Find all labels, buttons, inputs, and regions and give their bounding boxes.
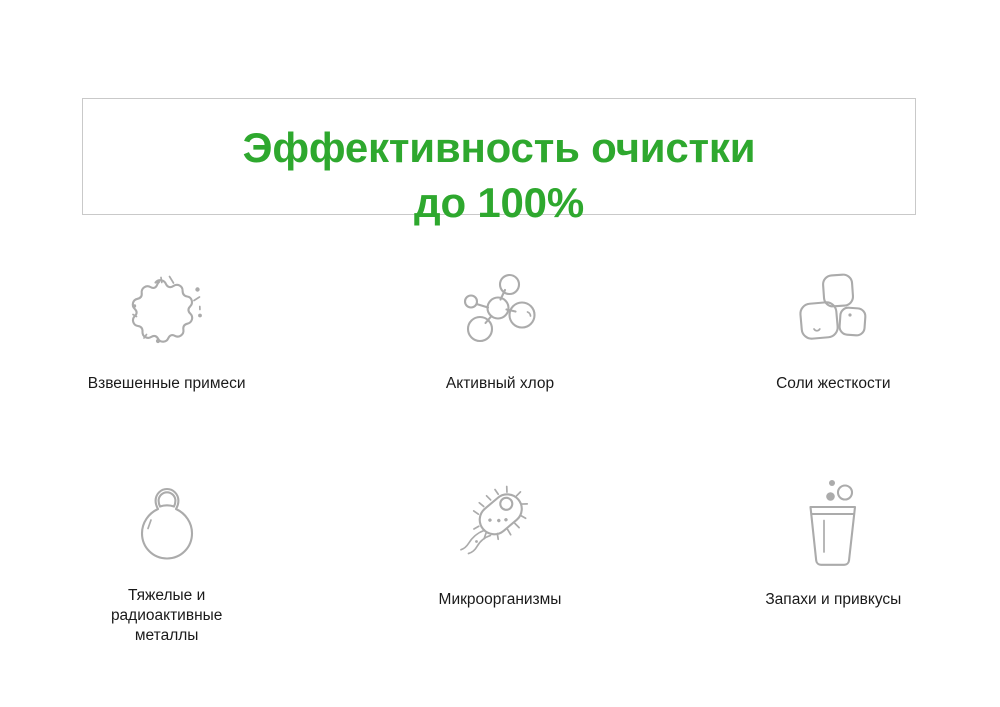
feature-item-suspended-impurities: Взвешенные примеси bbox=[0, 268, 333, 394]
feature-label: Соли жесткости bbox=[776, 374, 890, 394]
molecule-icon bbox=[455, 268, 545, 348]
page-title-line-1: Эффективность очистки bbox=[225, 121, 774, 174]
feature-item-heavy-metals: Тяжелые и радиоактивные металлы bbox=[0, 484, 333, 646]
feature-label: Запахи и привкусы bbox=[765, 590, 901, 610]
feature-label: Активный хлор bbox=[446, 374, 554, 394]
feature-label: Микроорганизмы bbox=[439, 590, 562, 610]
feature-label: Взвешенные примеси bbox=[88, 374, 246, 394]
bacteria-icon bbox=[455, 484, 545, 564]
glass-bubbles-icon bbox=[788, 484, 878, 564]
feature-label: Тяжелые и радиоактивные металлы bbox=[111, 586, 222, 646]
splash-icon bbox=[122, 268, 212, 348]
salt-crystals-icon bbox=[788, 268, 878, 348]
feature-item-active-chlorine: Активный хлор bbox=[333, 268, 666, 394]
features-row-1: Взвешенные примеси Активный хлор bbox=[0, 268, 1000, 394]
page-title-line-2: до 100% bbox=[82, 176, 916, 229]
kettlebell-icon bbox=[122, 484, 212, 564]
feature-item-microorganisms: Микроорганизмы bbox=[333, 484, 666, 646]
feature-item-odors-tastes: Запахи и привкусы bbox=[667, 484, 1000, 646]
features-grid: Взвешенные примеси Активный хлор bbox=[0, 268, 1000, 646]
features-row-2: Тяжелые и радиоактивные металлы bbox=[0, 484, 1000, 646]
page-title: Эффективность очистки до 100% bbox=[82, 68, 916, 282]
feature-item-hardness-salts: Соли жесткости bbox=[667, 268, 1000, 394]
